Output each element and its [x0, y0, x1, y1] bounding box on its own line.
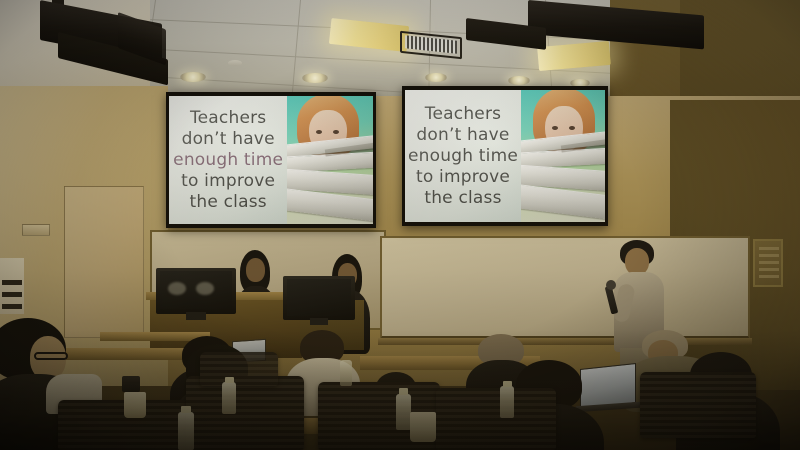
- dark-cup[interactable]: [122, 376, 140, 392]
- slide-photo: [521, 90, 605, 222]
- presenter-head: [246, 258, 265, 282]
- chair[interactable]: [200, 352, 278, 386]
- framed-wall-sign: [753, 239, 783, 287]
- whiteboard: [380, 236, 750, 340]
- recessed-ceiling-light: [180, 72, 206, 82]
- water-bottle[interactable]: [396, 394, 411, 430]
- recessed-ceiling-light: [302, 73, 328, 83]
- water-bottle[interactable]: [222, 382, 236, 414]
- chair[interactable]: [58, 400, 188, 450]
- slide-line: enough time: [408, 146, 518, 166]
- slide-photo: [287, 96, 373, 224]
- wall-plaque: [22, 224, 50, 236]
- slide-line: the class: [190, 192, 267, 212]
- slide-line: Teachers: [425, 104, 501, 124]
- whiteboard-marker-tray: [378, 338, 752, 345]
- eyeglasses: [34, 352, 68, 360]
- slide-line: to improve: [416, 167, 510, 187]
- recessed-ceiling-light: [508, 76, 530, 85]
- slide-line: enough time: [173, 150, 283, 170]
- water-bottle[interactable]: [340, 360, 352, 386]
- right-projection-screen: Teachers don’t have enough time to impro…: [402, 86, 608, 226]
- bottle-cap: [503, 381, 512, 387]
- monitor-stand: [186, 312, 206, 320]
- slide-left: Teachers don’t have enough time to impro…: [169, 96, 373, 224]
- classroom-scene: Teachers don’t have enough time to impro…: [0, 0, 800, 450]
- slide-line: to improve: [181, 171, 275, 191]
- water-bottle[interactable]: [500, 386, 514, 418]
- monitor-reflection: [168, 282, 186, 295]
- slide-right: Teachers don’t have enough time to impro…: [405, 90, 605, 222]
- chair[interactable]: [186, 376, 304, 450]
- slide-text-panel: Teachers don’t have enough time to impro…: [169, 96, 287, 224]
- monitor-reflection: [196, 282, 214, 295]
- slide-text-panel: Teachers don’t have enough time to impro…: [405, 90, 521, 222]
- bottle-cap: [225, 377, 234, 383]
- chair[interactable]: [640, 372, 756, 438]
- monitor-stand: [310, 318, 328, 325]
- door[interactable]: [64, 186, 144, 338]
- slide-line: don’t have: [182, 129, 275, 149]
- wall-poster: [0, 258, 24, 314]
- bottle-cap: [399, 388, 408, 395]
- bottle-cap: [181, 406, 191, 413]
- chair[interactable]: [436, 388, 556, 450]
- monitor-screen: [287, 279, 351, 316]
- left-projection-screen: Teachers don’t have enough time to impro…: [166, 92, 376, 228]
- slide-line: don’t have: [416, 125, 509, 145]
- photo-eye: [552, 126, 558, 130]
- microphone-head: [606, 280, 616, 290]
- slide-line: Teachers: [190, 108, 266, 128]
- speaker-head: [625, 248, 649, 275]
- photo-eye: [569, 126, 575, 130]
- ceiling-vent: [228, 60, 242, 66]
- recessed-ceiling-light: [425, 73, 447, 82]
- drink-cup[interactable]: [410, 412, 436, 442]
- drink-cup[interactable]: [124, 392, 146, 418]
- water-bottle[interactable]: [178, 412, 194, 450]
- slide-line: the class: [424, 188, 501, 208]
